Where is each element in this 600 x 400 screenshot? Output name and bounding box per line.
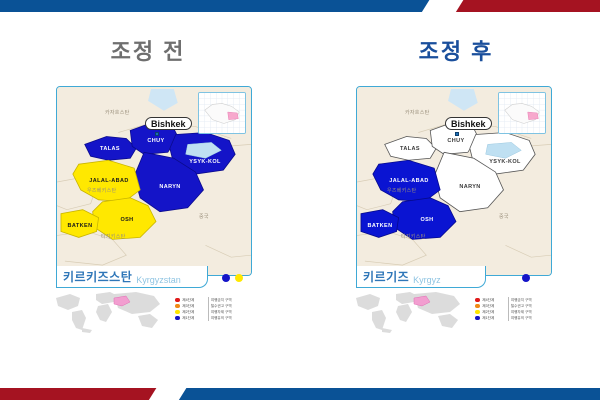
legend-level-label: 제1단계 <box>181 315 208 321</box>
legend-swatch-level4 <box>175 298 180 303</box>
bottom-banner-red-band <box>0 388 170 400</box>
capital-callout-bishkek[interactable]: Bishkek <box>445 117 492 130</box>
legend-desc-label: 여행유의 구역 <box>508 315 552 321</box>
inset-locator-map-before <box>198 92 246 134</box>
region-label-osh: OSH <box>120 217 133 223</box>
legend-swatch-level3 <box>475 304 480 309</box>
legend-swatch-level1 <box>175 316 180 321</box>
caption-korean-after: 키르기즈 <box>363 268 409 285</box>
legend-desc-label: 여행유의 구역 <box>208 315 252 321</box>
region-label-chuy: CHUY <box>447 138 464 144</box>
region-label-ysyk-kol: YSYK-KOL <box>189 159 221 165</box>
caption-dots-before <box>222 274 243 282</box>
region-label-jalal-abad: JALAL-ABAD <box>89 178 128 184</box>
capital-callout-bishkek[interactable]: Bishkek <box>145 117 192 130</box>
top-banner-blue-band <box>0 0 448 12</box>
bottom-banner-blue-band <box>160 388 600 400</box>
legend-swatch-level2 <box>475 310 480 315</box>
worldmap-legend-row-after: 제4단계 여행금지 구역 제3단계 철수권고 구역 제2단계 여행자제 구역 제… <box>352 288 552 336</box>
region-label-talas: TALAS <box>400 146 420 152</box>
caption-tab-before: 키르키즈스탄 Kyrgyzstan <box>56 266 208 288</box>
region-label-osh: OSH <box>420 217 433 223</box>
region-label-jalal-abad: JALAL-ABAD <box>389 178 428 184</box>
region-label-batken: BATKEN <box>68 223 93 229</box>
region-label-batken: BATKEN <box>368 223 393 229</box>
map-frame-before: 카자흐스탄 우즈베키스탄 타지키스탄 중국 TALAS CHUY YSYK-KO… <box>56 86 252 276</box>
caption-dot-blue <box>522 274 530 282</box>
capital-marker-dot <box>155 132 159 136</box>
capital-marker-dot <box>455 132 459 136</box>
region-label-ysyk-kol: YSYK-KOL <box>489 159 521 165</box>
panel-titles: 조정 전 조정 후 <box>0 34 600 68</box>
inset-locator-map-after <box>498 92 546 134</box>
legend-level-label: 제1단계 <box>481 315 508 321</box>
caption-dot-blue <box>222 274 230 282</box>
legend-swatch-level1 <box>475 316 480 321</box>
geo-label-kazakhstan: 카자흐스탄 <box>405 109 430 116</box>
geo-label-tajikistan: 타지키스탄 <box>401 233 426 240</box>
map-frame-after: 카자흐스탄 우즈베키스탄 타지키스탄 중국 TALAS CHUY YSYK-KO… <box>356 86 552 276</box>
caption-korean-before: 키르키즈스탄 <box>63 268 132 285</box>
caption-dot-yellow <box>235 274 243 282</box>
legend-after: 제4단계 여행금지 구역 제3단계 철수권고 구역 제2단계 여행자제 구역 제… <box>474 297 552 321</box>
caption-english-after: Kyrgyz <box>413 275 441 287</box>
legend-swatch-level4 <box>475 298 480 303</box>
legend-row: 제1단계 여행유의 구역 <box>174 315 252 321</box>
region-label-naryn: NARYN <box>459 184 480 190</box>
page-title-after: 조정 후 <box>336 34 576 66</box>
geo-label-china: 중국 <box>199 213 209 220</box>
worldmap-legend-row-before: 제4단계 여행금지 구역 제3단계 철수권고 구역 제2단계 여행자제 구역 제… <box>52 288 252 336</box>
caption-dots-after <box>522 274 530 282</box>
geo-label-china: 중국 <box>499 213 509 220</box>
geo-label-uzbekistan: 우즈베키스탄 <box>87 187 116 194</box>
region-label-talas: TALAS <box>100 146 120 152</box>
region-label-chuy: CHUY <box>147 138 164 144</box>
geo-label-kazakhstan: 카자흐스탄 <box>105 109 130 116</box>
top-banner <box>0 0 600 12</box>
world-map-after <box>352 288 470 334</box>
caption-tab-after: 키르기즈 Kyrgyz <box>356 266 486 288</box>
geo-label-uzbekistan: 우즈베키스탄 <box>387 187 416 194</box>
bottom-banner <box>0 388 600 400</box>
figure-before: 카자흐스탄 우즈베키스탄 타지키스탄 중국 TALAS CHUY YSYK-KO… <box>56 86 252 276</box>
world-map-before <box>52 288 170 334</box>
legend-swatch-level3 <box>175 304 180 309</box>
legend-row: 제1단계 여행유의 구역 <box>474 315 552 321</box>
page-title-before: 조정 전 <box>28 34 268 66</box>
region-label-naryn: NARYN <box>159 184 180 190</box>
legend-swatch-level2 <box>175 310 180 315</box>
caption-english-before: Kyrgyzstan <box>136 275 181 287</box>
legend-before: 제4단계 여행금지 구역 제3단계 철수권고 구역 제2단계 여행자제 구역 제… <box>174 297 252 321</box>
top-banner-red-band <box>440 0 600 12</box>
geo-label-tajikistan: 타지키스탄 <box>101 233 126 240</box>
figure-after: 카자흐스탄 우즈베키스탄 타지키스탄 중국 TALAS CHUY YSYK-KO… <box>356 86 552 276</box>
